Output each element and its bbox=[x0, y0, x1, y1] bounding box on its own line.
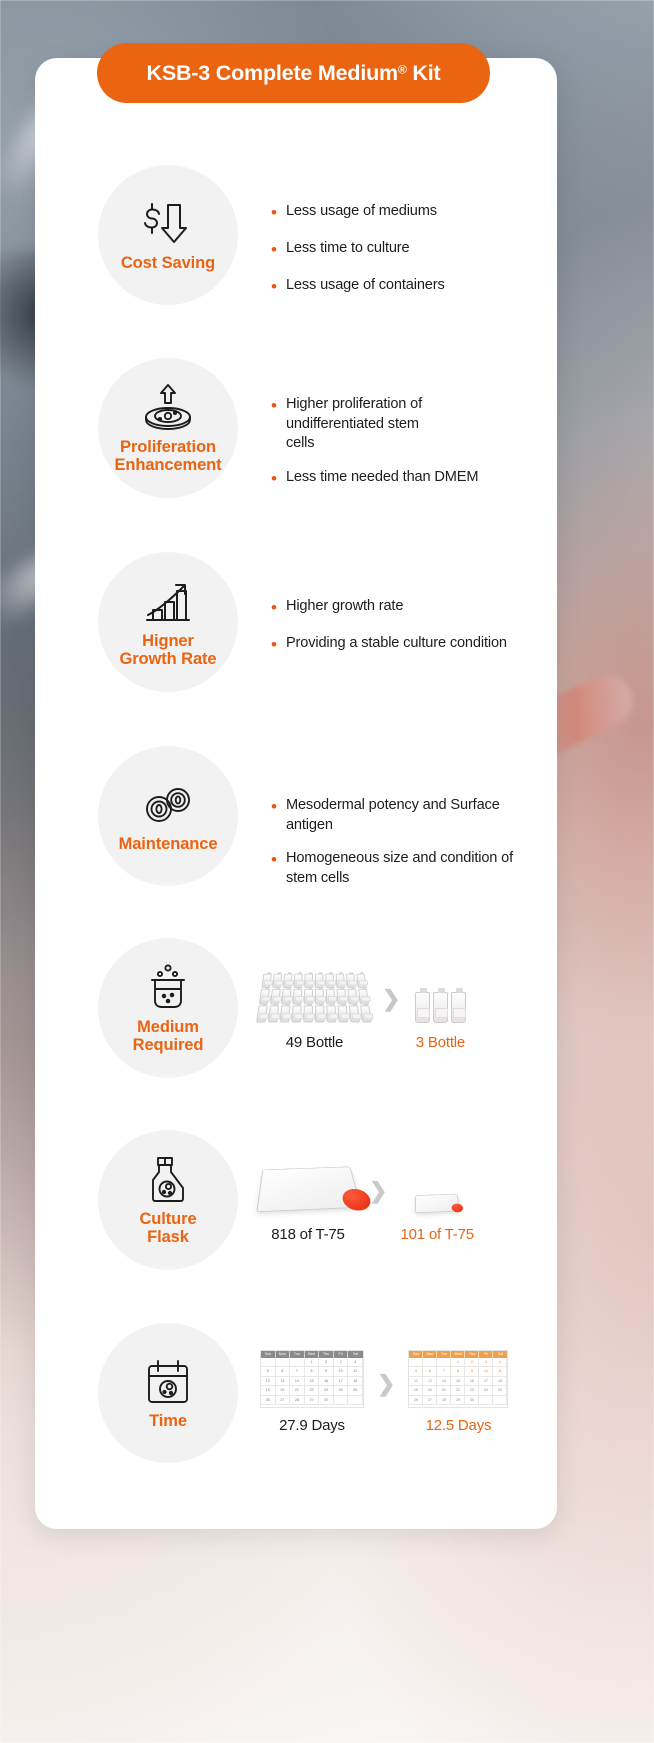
medium-after-label: 3 Bottle bbox=[416, 1034, 465, 1051]
time-before: Sun Mon Tue Wed Thu Fri Sat 1234 5678910… bbox=[260, 1352, 364, 1434]
medium-before-label: 49 Bottle bbox=[286, 1034, 343, 1051]
registered-mark: ® bbox=[398, 62, 407, 76]
comparison-arrow-icon: ❯ bbox=[377, 1373, 395, 1395]
time-after-label: 12.5 Days bbox=[426, 1417, 492, 1434]
medium-required-badge: Medium Required bbox=[98, 938, 238, 1078]
list-item: • Providing a stable culture condition bbox=[271, 634, 557, 657]
small-flask-icon bbox=[415, 1157, 459, 1215]
proliferation-bullets: • Higher proliferation of undifferentiat… bbox=[271, 358, 557, 491]
bullet-dot-icon: • bbox=[271, 468, 277, 491]
section-time: Time Sun Mon Tue Wed Thu Fri Sat bbox=[35, 1323, 557, 1463]
maintenance-badge: Maintenance bbox=[98, 746, 238, 886]
culture-bottle-icon bbox=[143, 1154, 193, 1206]
flask-after-label: 101 of T-75 bbox=[400, 1226, 473, 1243]
bullet-dot-icon: • bbox=[271, 597, 277, 620]
bottle-group-icon bbox=[413, 965, 467, 1023]
medium-after: 3 Bottle bbox=[413, 965, 467, 1051]
time-after: Sun Mon Tue Wed Thu Fri Sat 1234 5678910… bbox=[408, 1352, 508, 1434]
bullet-text: Less usage of mediums bbox=[286, 202, 437, 222]
bullet-dot-icon: • bbox=[271, 276, 277, 299]
time-before-label: 27.9 Days bbox=[279, 1417, 345, 1434]
time-label: Time bbox=[149, 1412, 187, 1430]
medium-required-label-line1: Medium bbox=[137, 1018, 199, 1036]
maintenance-label: Maintenance bbox=[119, 835, 218, 853]
culture-flask-badge: Culture Flask bbox=[98, 1130, 238, 1270]
calendar-gray: Sun Mon Tue Wed Thu Fri Sat 1234 5678910… bbox=[260, 1350, 364, 1409]
list-item: • Less usage of containers bbox=[271, 276, 557, 299]
bullet-text: Providing a stable culture condition bbox=[286, 634, 507, 654]
page-title-main: KSB-3 Complete Medium bbox=[147, 61, 398, 85]
proliferation-badge: Proliferation Enhancement bbox=[98, 358, 238, 498]
two-cells-icon bbox=[141, 779, 195, 831]
bullet-text: Higher growth rate bbox=[286, 597, 403, 617]
page-title-suffix: Kit bbox=[407, 61, 441, 85]
calendar-weekday-header: Sun Mon Tue Wed Thu Fri Sat bbox=[261, 1351, 363, 1358]
petri-dish-up-arrow-icon bbox=[141, 382, 195, 434]
bullet-text: Mesodermal potency and Surface antigen bbox=[286, 796, 534, 835]
calendar-orange: Sun Mon Tue Wed Thu Fri Sat 1234 5678910… bbox=[408, 1350, 508, 1409]
growth-bar-chart-icon bbox=[142, 576, 194, 628]
list-item: • Less time to culture bbox=[271, 239, 557, 262]
bullet-text: Less time to culture bbox=[286, 239, 410, 259]
list-item: • Mesodermal potency and Surface antigen bbox=[271, 796, 557, 835]
comparison-arrow-icon: ❯ bbox=[382, 988, 400, 1010]
list-item: • Higher proliferation of undifferentiat… bbox=[271, 395, 557, 454]
cost-saving-label: Cost Saving bbox=[121, 254, 215, 272]
growth-rate-label-line2: Growth Rate bbox=[120, 650, 217, 668]
kit-title-banner: KSB-3 Complete Medium® Kit bbox=[97, 43, 490, 103]
section-maintenance: Maintenance • Mesodermal potency and Sur… bbox=[35, 746, 557, 889]
flask-before-label: 818 of T-75 bbox=[271, 1226, 344, 1243]
culture-flask-label: Culture Flask bbox=[139, 1210, 196, 1247]
comparison-arrow-icon: ❯ bbox=[369, 1180, 387, 1202]
bullet-dot-icon: • bbox=[271, 796, 277, 819]
growth-rate-badge: Higner Growth Rate bbox=[98, 552, 238, 692]
time-comparison: Sun Mon Tue Wed Thu Fri Sat 1234 5678910… bbox=[260, 1323, 557, 1463]
bullet-dot-icon: • bbox=[271, 634, 277, 657]
culture-flask-comparison: 818 of T-75 ❯ 101 of T-75 bbox=[260, 1130, 557, 1270]
bullet-dot-icon: • bbox=[271, 849, 277, 872]
culture-flask-label-line1: Culture bbox=[139, 1210, 196, 1228]
calendar-days-orange: 1234 567891011 12131415161718 1920212223… bbox=[409, 1358, 507, 1406]
bullet-text: Higher proliferation of undifferentiated… bbox=[286, 395, 451, 454]
orange-calendar-icon: Sun Mon Tue Wed Thu Fri Sat 1234 5678910… bbox=[408, 1352, 508, 1406]
section-proliferation-enhancement: Proliferation Enhancement • Higher proli… bbox=[35, 358, 557, 498]
growth-rate-label: Higner Growth Rate bbox=[120, 632, 217, 669]
section-higher-growth-rate: Higner Growth Rate • Higher growth rate … bbox=[35, 552, 557, 692]
culture-flask-label-line2: Flask bbox=[147, 1228, 189, 1246]
flask-after: 101 of T-75 bbox=[400, 1157, 473, 1243]
growth-rate-bullets: • Higher growth rate • Providing a stabl… bbox=[271, 552, 557, 657]
bottle-pack-icon bbox=[260, 965, 369, 1023]
page-title: KSB-3 Complete Medium® Kit bbox=[147, 61, 441, 86]
gray-calendar-icon: Sun Mon Tue Wed Thu Fri Sat 1234 5678910… bbox=[260, 1352, 364, 1406]
medium-required-comparison: 49 Bottle ❯ 3 Bottle bbox=[260, 938, 557, 1078]
proliferation-label-line2: Enhancement bbox=[114, 456, 221, 474]
calendar-cell-icon bbox=[143, 1356, 193, 1408]
medium-before: 49 Bottle bbox=[260, 965, 369, 1051]
section-culture-flask: Culture Flask 818 of T-75 ❯ 101 of T-75 bbox=[35, 1130, 557, 1270]
proliferation-label-line1: Proliferation bbox=[120, 438, 216, 456]
proliferation-label: Proliferation Enhancement bbox=[114, 438, 221, 475]
list-item: • Homogeneous size and condition of stem… bbox=[271, 849, 557, 888]
bullet-dot-icon: • bbox=[271, 239, 277, 262]
section-cost-saving: Cost Saving • Less usage of mediums • Le… bbox=[35, 165, 557, 305]
list-item: • Higher growth rate bbox=[271, 597, 557, 620]
list-item: • Less time needed than DMEM bbox=[271, 468, 557, 491]
cost-saving-badge: Cost Saving bbox=[98, 165, 238, 305]
cost-saving-bullets: • Less usage of mediums • Less time to c… bbox=[271, 165, 557, 299]
flask-before: 818 of T-75 bbox=[260, 1157, 356, 1243]
medium-required-label: Medium Required bbox=[133, 1018, 204, 1055]
growth-rate-label-line1: Higner bbox=[142, 632, 194, 650]
beaker-bubbles-icon bbox=[142, 962, 194, 1014]
dollar-down-arrow-icon bbox=[142, 198, 194, 250]
maintenance-bullets: • Mesodermal potency and Surface antigen… bbox=[271, 746, 557, 889]
bullet-text: Homogeneous size and condition of stem c… bbox=[286, 849, 534, 888]
bullet-dot-icon: • bbox=[271, 202, 277, 225]
calendar-weekday-header: Sun Mon Tue Wed Thu Fri Sat bbox=[409, 1351, 507, 1358]
medium-required-label-line2: Required bbox=[133, 1036, 204, 1054]
section-medium-required: Medium Required 49 Bottle ❯ bbox=[35, 938, 557, 1078]
bullet-text: Less time needed than DMEM bbox=[286, 468, 478, 488]
bullet-dot-icon: • bbox=[271, 395, 277, 418]
large-flask-icon bbox=[260, 1157, 356, 1215]
list-item: • Less usage of mediums bbox=[271, 202, 557, 225]
calendar-days-gray: 1234 567891011 12131415161718 1920212223… bbox=[261, 1358, 363, 1406]
bullet-text: Less usage of containers bbox=[286, 276, 445, 296]
time-badge: Time bbox=[98, 1323, 238, 1463]
